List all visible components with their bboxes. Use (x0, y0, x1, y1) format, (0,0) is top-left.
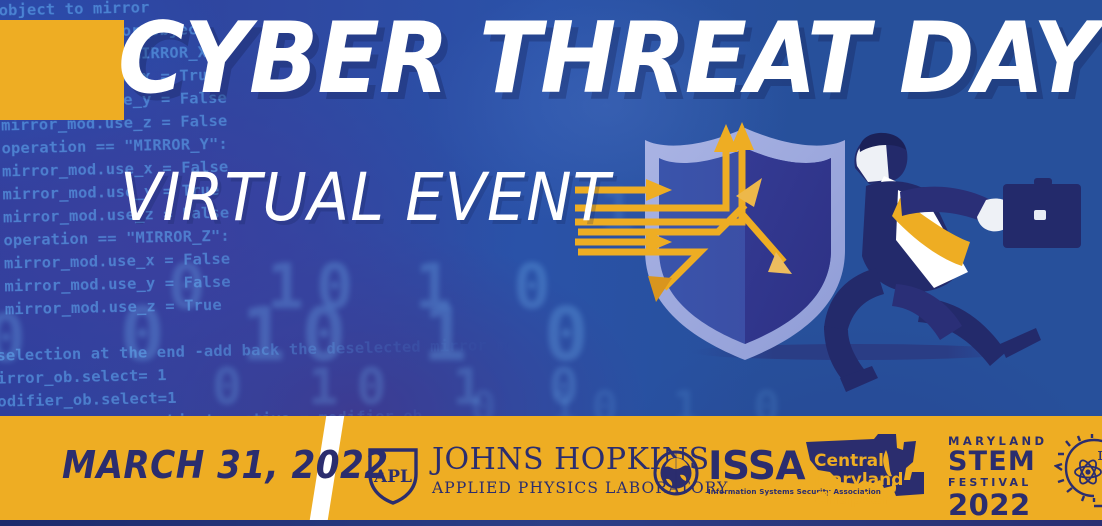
logo-maryland-stem-festival: MARYLAND STEM FESTIVAL 2022 π (948, 434, 1102, 520)
page-subtitle: VIRTUAL EVENT (120, 162, 611, 234)
stem-line2: STEM (948, 448, 1048, 475)
cmd-text: Central Maryland Chapter (814, 452, 903, 509)
cyber-threat-day-banner: object to mirror mirror_mod.mirror_objec… (0, 0, 1102, 526)
svg-text:APL: APL (373, 467, 412, 487)
gold-accent-tab (0, 20, 124, 120)
logo-central-maryland-chapter: Central Maryland Chapter (800, 428, 928, 513)
cmd-line2: Maryland (814, 471, 903, 490)
stem-line4: 2022 (948, 490, 1048, 520)
head-gear-icon: π (1054, 434, 1102, 510)
stem-text: MARYLAND STEM FESTIVAL 2022 (948, 434, 1048, 520)
footer-bottom-edge (0, 520, 1102, 526)
event-date: MARCH 31, 2022 (62, 443, 388, 487)
cmd-line3: Chapter (814, 490, 903, 509)
svg-text:π: π (1097, 445, 1102, 465)
apl-shield-icon: APL (366, 444, 420, 506)
cmd-line1: Central (814, 452, 903, 471)
globe-icon (652, 449, 700, 497)
page-title: CYBER THREAT DAY (118, 7, 1098, 111)
